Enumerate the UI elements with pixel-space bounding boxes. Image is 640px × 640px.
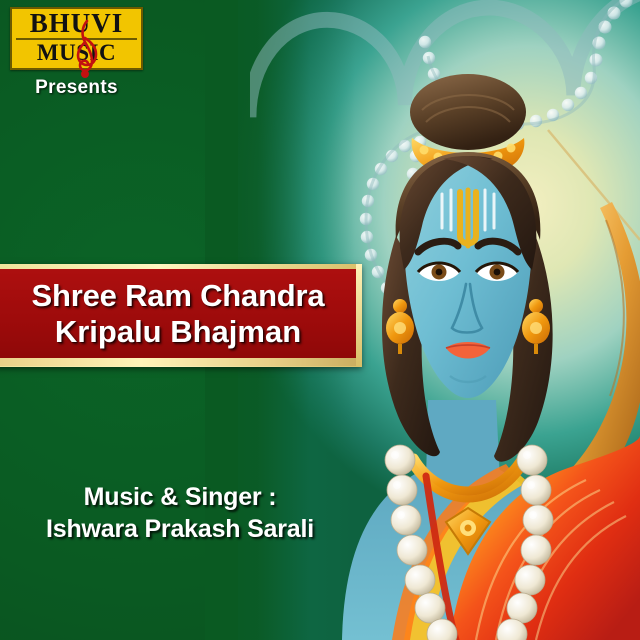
presents-label: Presents	[10, 77, 143, 99]
album-cover-poster: BHUVI MUSIC Presents Shree Ram Chandra K…	[0, 0, 640, 640]
title-line-1: Shree Ram Chandra	[4, 278, 352, 314]
bhuvi-music-logo[interactable]: BHUVI MUSIC	[10, 7, 143, 70]
logo-line-bhuvi: BHUVI	[12, 10, 141, 37]
credits-role-label: Music & Singer :	[0, 481, 360, 513]
logo-line-music: MUSIC	[12, 41, 141, 65]
title-banner-bottom-border	[0, 358, 362, 366]
title-line-2: Kripalu Bhajman	[4, 314, 352, 350]
credits-block: Music & Singer : Ishwara Prakash Sarali	[0, 481, 360, 545]
label-branding-block: BHUVI MUSIC Presents	[10, 7, 143, 99]
title-banner-right-border	[356, 264, 362, 366]
title-banner: Shree Ram Chandra Kripalu Bhajman	[0, 264, 362, 367]
credits-artist-name: Ishwara Prakash Sarali	[0, 513, 360, 545]
